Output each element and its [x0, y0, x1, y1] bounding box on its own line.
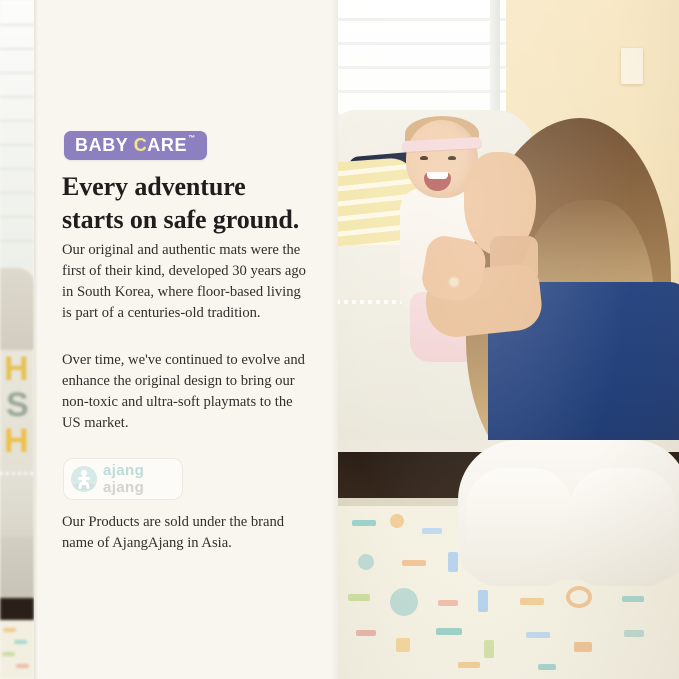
blind-slat — [0, 96, 34, 98]
trademark-symbol: ™ — [188, 135, 195, 142]
playmat-edge — [0, 620, 34, 679]
headline: Every adventurestarts on safe ground. — [62, 170, 328, 236]
baby-care-logo-badge: BABY CARE ™ — [64, 131, 207, 160]
baby-eye-left — [420, 156, 428, 160]
blind-slat — [0, 216, 34, 218]
blind-slat — [0, 168, 34, 170]
body-paragraph-1: Our original and authentic mats were the… — [62, 240, 306, 323]
body-paragraph-2: Over time, we've continued to evolve and… — [62, 350, 306, 433]
ajangajang-logo: ajang ajang — [64, 459, 182, 499]
logo-word-are: ARE — [147, 135, 187, 155]
ajangajang-child-icon — [71, 466, 97, 492]
blind-slat — [0, 120, 34, 122]
blind-slat — [338, 42, 506, 45]
sofa-seat — [0, 466, 34, 538]
blind-slat — [338, 90, 506, 93]
blind-slat — [0, 192, 34, 194]
blind-slat — [0, 24, 34, 26]
blind-slat — [0, 240, 34, 242]
ajangajang-wordmark: ajang ajang — [103, 463, 144, 495]
ajangajang-word-top: ajang — [103, 463, 144, 478]
content-panel — [34, 0, 338, 679]
pillow-letter-h-bottom: H — [4, 424, 29, 458]
panel-right-shadow — [330, 0, 338, 679]
sofa-stitching — [0, 472, 34, 475]
baby-eye-right — [448, 156, 456, 160]
sofa-base — [0, 536, 34, 602]
body-paragraph-3: Our Products are sold under the brand na… — [62, 512, 306, 554]
headline-line-1: Every adventure — [62, 172, 246, 201]
panel-left-shadow — [34, 0, 38, 679]
pillow-letter-s: S — [6, 388, 29, 422]
blind-slat — [338, 66, 506, 69]
lifestyle-photograph — [338, 0, 679, 679]
ajangajang-word-bottom: ajang — [103, 480, 144, 495]
headline-line-2: starts on safe ground. — [62, 205, 299, 234]
blind-slat — [338, 18, 506, 21]
pillow-letter-h-top: H — [4, 352, 29, 386]
blind-slat — [0, 72, 34, 74]
baby-care-logo-text: BABY CARE — [75, 136, 187, 154]
logo-word-baby: BABY — [75, 135, 134, 155]
left-photo-strip: H S H — [0, 0, 34, 679]
wall-switch — [621, 48, 643, 84]
product-image-canvas: H S H BABY CARE ™ Every adventurestarts … — [0, 0, 679, 679]
mother-ring — [450, 278, 458, 286]
mother-leg-left — [466, 468, 572, 586]
logo-letter-c-accent: C — [134, 135, 148, 155]
blind-slat — [0, 48, 34, 50]
blind-slat — [0, 144, 34, 146]
mother-leg-right — [570, 468, 676, 586]
